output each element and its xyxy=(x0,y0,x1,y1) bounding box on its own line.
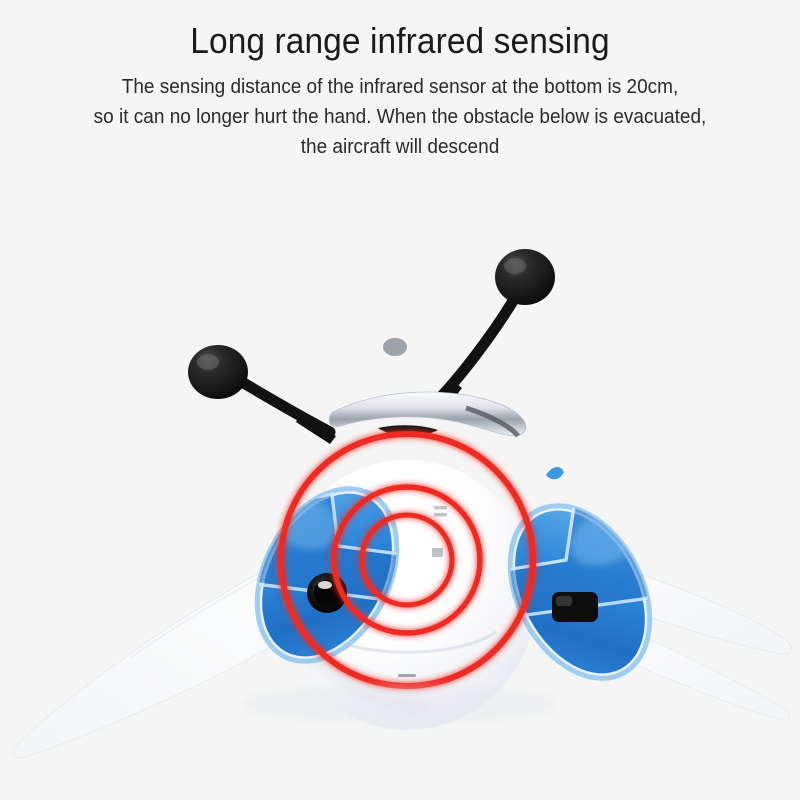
description-line-3: the aircraft will descend xyxy=(20,132,780,162)
text-block: Long range infrared sensing The sensing … xyxy=(0,0,800,162)
product-feature-page: Long range infrared sensing The sensing … xyxy=(0,0,800,800)
right-sensor xyxy=(552,592,598,622)
chrome-band xyxy=(329,338,525,436)
product-shadow xyxy=(240,684,560,724)
left-antenna-ball xyxy=(188,345,248,399)
right-antenna-ball xyxy=(495,249,555,305)
bottom-slot xyxy=(398,674,416,677)
product-image xyxy=(0,180,800,800)
page-title: Long range infrared sensing xyxy=(28,0,772,63)
left-antenna xyxy=(188,345,336,444)
description-text: The sensing distance of the infrared sen… xyxy=(20,63,780,162)
description-line-1: The sensing distance of the infrared sen… xyxy=(20,72,780,102)
right-antenna xyxy=(432,249,555,414)
description-line-2: so it can no longer hurt the hand. When … xyxy=(20,102,780,132)
